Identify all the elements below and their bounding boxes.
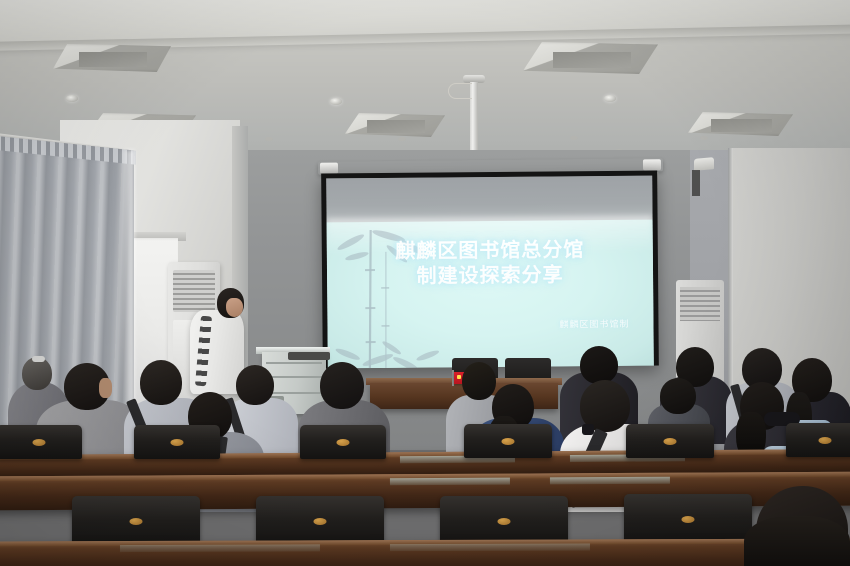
downlight-icon <box>398 137 406 141</box>
downlight-icon <box>265 137 273 141</box>
ac-vent-icon <box>680 287 720 321</box>
ceiling-coffer <box>345 113 445 137</box>
presenter-face <box>226 298 243 317</box>
chair-back <box>134 425 220 459</box>
ceiling-coffer <box>53 44 171 72</box>
ac-vent-icon <box>173 270 215 312</box>
slide-subtitle: 麒麟区图书馆制 <box>559 317 629 331</box>
slide-title: 麒麟区图书馆总分馆 制建设探索分享 <box>327 238 653 291</box>
downlight-icon <box>570 136 578 140</box>
hair-clip-icon <box>32 356 45 362</box>
chair-back <box>464 424 552 458</box>
podium-equipment <box>288 352 330 360</box>
downlight-icon <box>330 98 342 105</box>
ear <box>99 378 112 398</box>
wall-speaker-icon <box>694 157 714 171</box>
screen-surface: 麒麟区图书馆总分馆 制建设探索分享 麒麟区图书馆制 <box>326 176 654 369</box>
chair-back <box>0 425 82 459</box>
downlight-icon <box>604 95 616 102</box>
photo-scene: 麒麟区图书馆总分馆 制建设探索分享 麒麟区图书馆制 <box>0 0 850 566</box>
downlight-icon <box>66 95 78 102</box>
projector-cable-loop <box>448 83 472 99</box>
ceiling-coffer <box>688 112 793 136</box>
projection-screen: 麒麟区图书馆总分馆 制建设探索分享 麒麟区图书馆制 <box>321 171 659 369</box>
wall-speaker-shadow <box>692 170 700 196</box>
desk-row <box>0 538 850 566</box>
chair-back <box>786 423 850 457</box>
downlight-icon <box>700 136 708 140</box>
ceiling-coffer <box>523 42 658 74</box>
slide-title-line2: 制建设探索分享 <box>327 263 653 291</box>
slide-title-line1: 麒麟区图书馆总分馆 <box>395 239 584 263</box>
wristwatch <box>582 424 594 435</box>
chair-back <box>626 424 714 458</box>
window-light-gap <box>120 150 134 415</box>
chair-back <box>300 425 386 459</box>
